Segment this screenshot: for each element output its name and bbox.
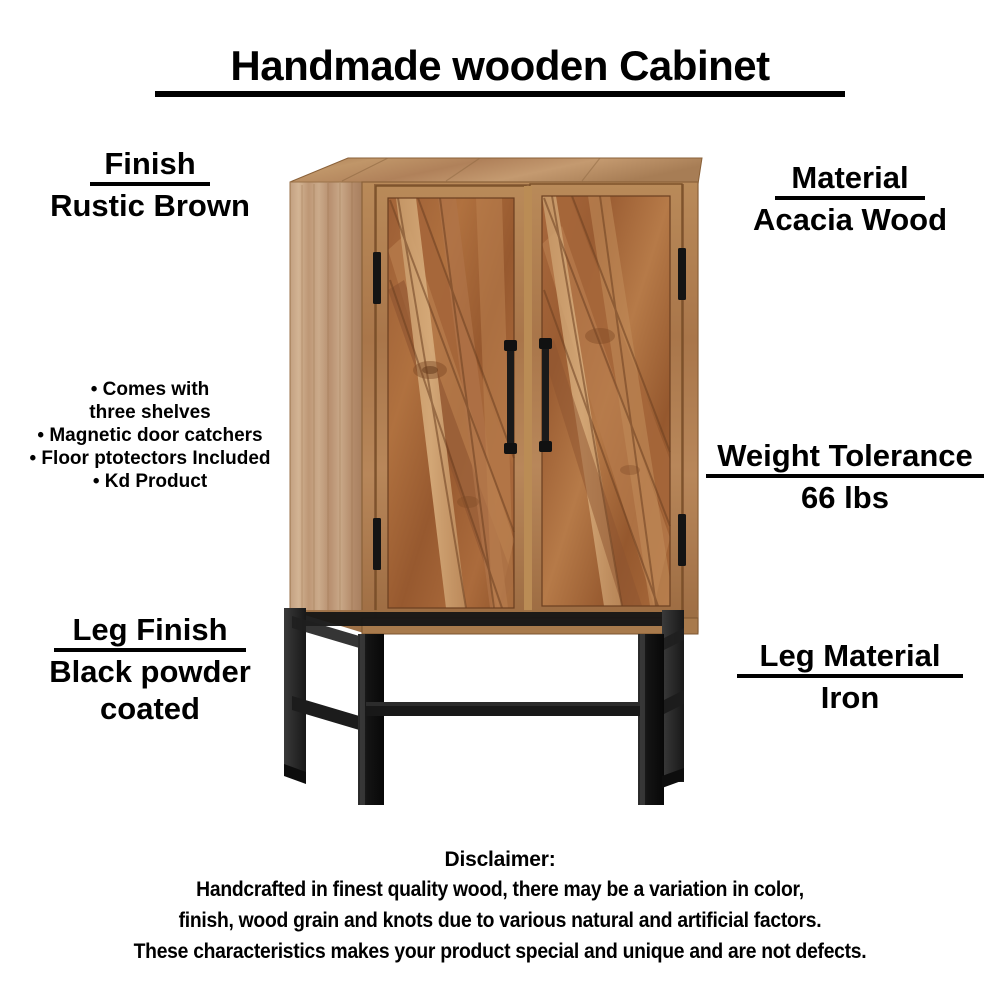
list-item: • Floor ptotectors Included bbox=[0, 447, 300, 470]
disclaimer-line: These characteristics makes your product… bbox=[40, 936, 960, 967]
door-hinge bbox=[373, 518, 381, 570]
spec-weight-tolerance: Weight Tolerance 66 lbs bbox=[690, 438, 1000, 516]
disclaimer: Disclaimer: Handcrafted in finest qualit… bbox=[0, 846, 1000, 967]
spec-material-head: Material bbox=[791, 160, 908, 196]
spec-weight-tolerance-underline bbox=[706, 474, 984, 478]
cabinet-door-right bbox=[530, 184, 686, 618]
spec-material-underline bbox=[775, 196, 925, 200]
spec-finish-head: Finish bbox=[104, 146, 195, 182]
spec-leg-material-head: Leg Material bbox=[760, 638, 941, 674]
door-center-seam bbox=[524, 186, 532, 618]
spec-material: Material Acacia Wood bbox=[700, 160, 1000, 238]
cabinet-door-left bbox=[373, 186, 526, 620]
cabinet-top bbox=[290, 158, 702, 184]
disclaimer-title: Disclaimer: bbox=[0, 846, 1000, 874]
title-underline bbox=[155, 91, 845, 97]
list-item: • Kd Product bbox=[0, 470, 300, 493]
spec-leg-finish: Leg Finish Black powder coated bbox=[0, 612, 300, 727]
spec-leg-material: Leg Material Iron bbox=[700, 638, 1000, 716]
spec-weight-tolerance-head: Weight Tolerance bbox=[717, 438, 973, 474]
spec-finish: Finish Rustic Brown bbox=[0, 146, 300, 224]
cabinet-legs bbox=[284, 608, 684, 805]
spec-leg-material-value: Iron bbox=[700, 679, 1000, 716]
spec-leg-finish-head: Leg Finish bbox=[73, 612, 228, 648]
door-hinge bbox=[678, 248, 686, 300]
cabinet-side-panel bbox=[290, 182, 362, 632]
door-hinge bbox=[678, 514, 686, 566]
spec-leg-material-underline bbox=[737, 674, 963, 678]
spec-material-value: Acacia Wood bbox=[700, 201, 1000, 238]
spec-weight-tolerance-value: 66 lbs bbox=[690, 479, 1000, 516]
disclaimer-line: Handcrafted in finest quality wood, ther… bbox=[40, 874, 960, 905]
spec-finish-underline bbox=[90, 182, 210, 186]
page-title: Handmade wooden Cabinet bbox=[0, 44, 1000, 97]
list-item: • Magnetic door catchers bbox=[0, 424, 300, 447]
page-title-text: Handmade wooden Cabinet bbox=[0, 44, 1000, 88]
spec-finish-value: Rustic Brown bbox=[0, 187, 300, 224]
disclaimer-line: finish, wood grain and knots due to vari… bbox=[40, 905, 960, 936]
feature-list: • Comes with three shelves • Magnetic do… bbox=[0, 378, 300, 493]
door-hinge bbox=[373, 252, 381, 304]
spec-leg-finish-value: Black powder coated bbox=[0, 653, 300, 727]
list-item: • Comes with three shelves bbox=[0, 378, 300, 424]
spec-leg-finish-underline bbox=[54, 648, 246, 652]
product-image bbox=[270, 140, 730, 805]
